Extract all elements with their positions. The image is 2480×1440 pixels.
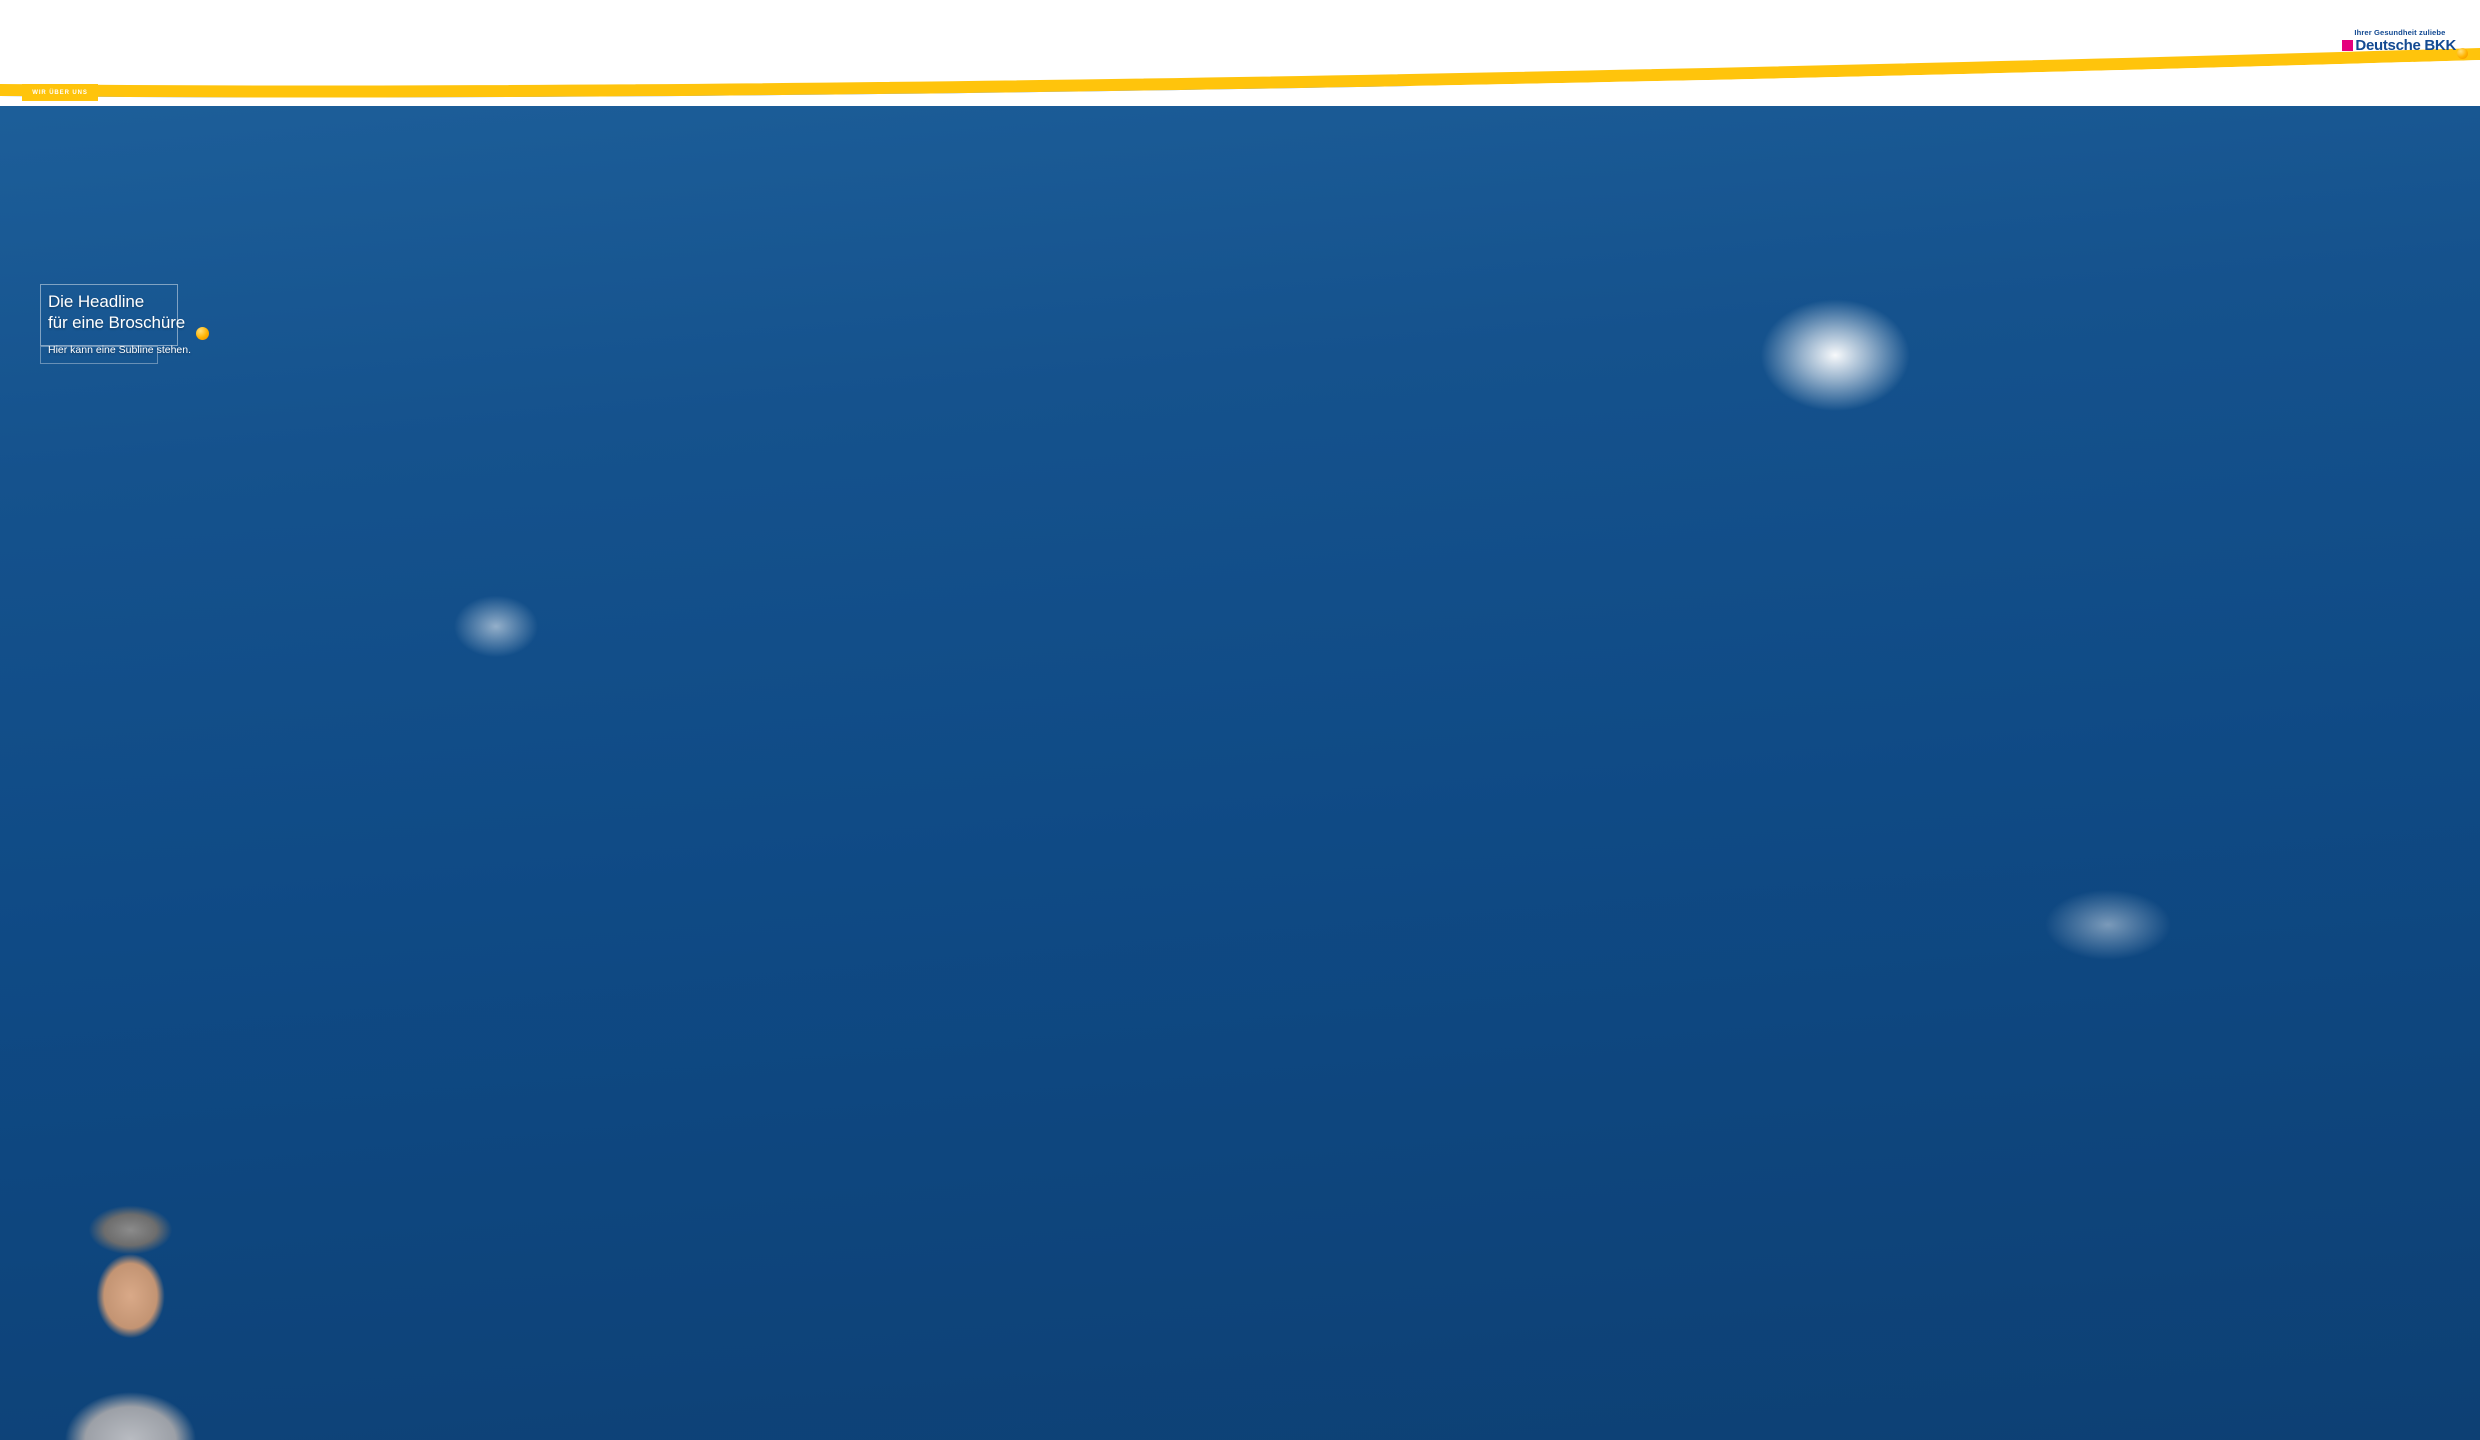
brochure-cover-mockup: Ihrer Gesundheit zuliebe Deutsche BKK WI…	[0, 0, 255, 535]
headline-construction-box	[40, 284, 178, 346]
subline-construction-box	[40, 346, 158, 364]
sonnenball-icon-headline	[196, 327, 209, 340]
cover-reiter-tab: WIR ÜBER UNS	[22, 84, 98, 101]
